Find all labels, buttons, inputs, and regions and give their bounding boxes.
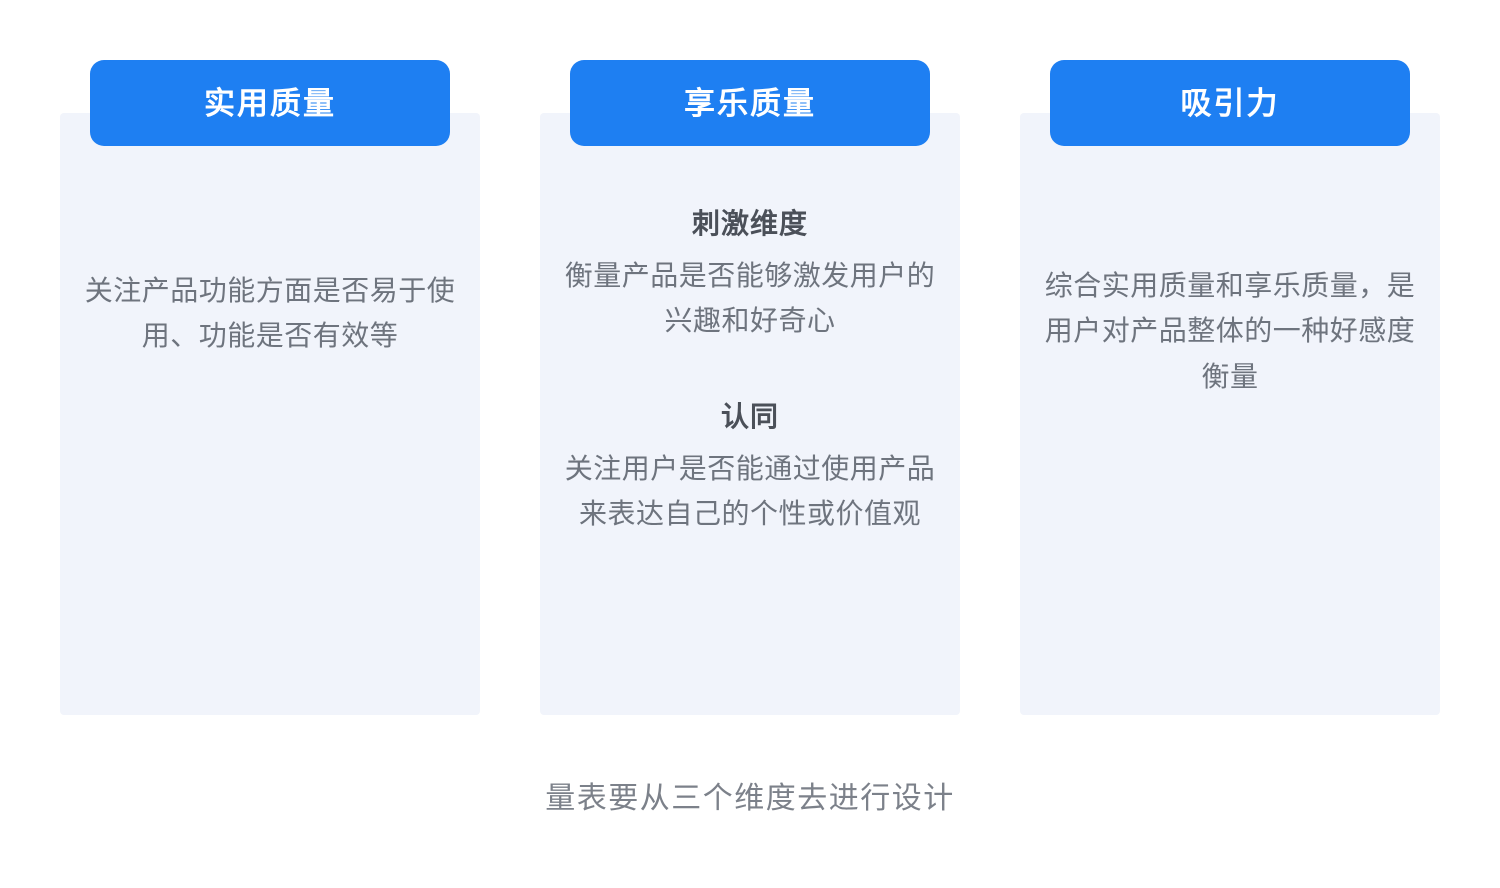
dimension-column-pragmatic-quality: 实用质量 关注产品功能方面是否易于使用、功能是否有效等 — [60, 113, 480, 715]
block-description: 综合实用质量和享乐质量，是用户对产品整体的一种好感度衡量 — [1038, 263, 1422, 399]
block-description: 关注用户是否能通过使用产品来表达自己的个性或价值观 — [558, 446, 942, 537]
column-body: 刺激维度 衡量产品是否能够激发用户的兴趣和好奇心 认同 关注用户是否能通过使用产… — [540, 113, 960, 536]
three-dimension-diagram: 实用质量 关注产品功能方面是否易于使用、功能是否有效等 享乐质量 刺激维度 衡量… — [0, 0, 1500, 888]
content-block: 综合实用质量和享乐质量，是用户对产品整体的一种好感度衡量 — [1038, 263, 1422, 399]
content-block-identification: 认同 关注用户是否能通过使用产品来表达自己的个性或价值观 — [558, 396, 942, 537]
block-subtitle: 认同 — [558, 396, 942, 438]
column-body: 关注产品功能方面是否易于使用、功能是否有效等 — [60, 113, 480, 359]
dimension-column-hedonic-quality: 享乐质量 刺激维度 衡量产品是否能够激发用户的兴趣和好奇心 认同 关注用户是否能… — [540, 113, 960, 715]
block-description: 关注产品功能方面是否易于使用、功能是否有效等 — [78, 268, 462, 359]
content-block: 关注产品功能方面是否易于使用、功能是否有效等 — [78, 268, 462, 359]
dimension-column-attractiveness: 吸引力 综合实用质量和享乐质量，是用户对产品整体的一种好感度衡量 — [1020, 113, 1440, 715]
block-description: 衡量产品是否能够激发用户的兴趣和好奇心 — [558, 253, 942, 344]
column-body: 综合实用质量和享乐质量，是用户对产品整体的一种好感度衡量 — [1020, 113, 1440, 399]
dimension-columns: 实用质量 关注产品功能方面是否易于使用、功能是否有效等 享乐质量 刺激维度 衡量… — [60, 113, 1440, 715]
block-subtitle: 刺激维度 — [558, 203, 942, 245]
diagram-caption: 量表要从三个维度去进行设计 — [0, 778, 1500, 820]
content-block-stimulation: 刺激维度 衡量产品是否能够激发用户的兴趣和好奇心 — [558, 203, 942, 344]
